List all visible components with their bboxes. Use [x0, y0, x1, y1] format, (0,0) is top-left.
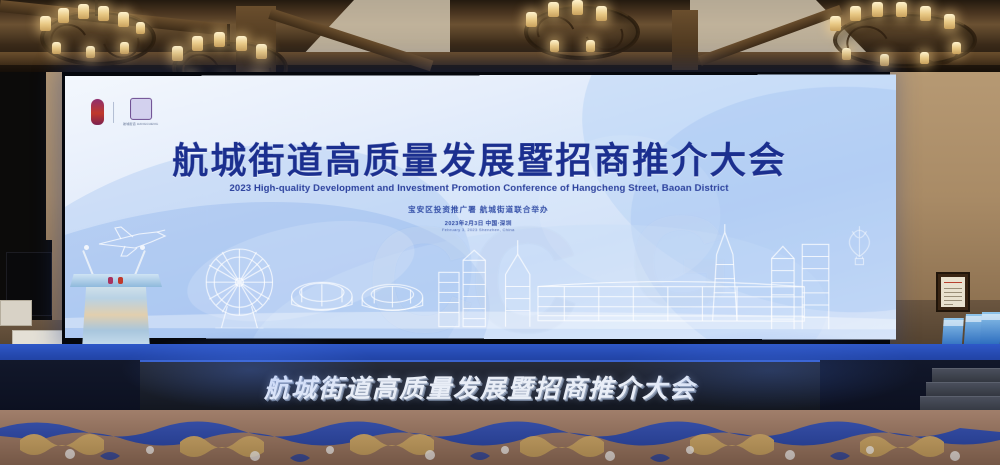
patterned-carpet [0, 410, 1000, 465]
stage-front-banner: 航城街道高质量发展暨招商推介大会 [140, 360, 820, 412]
microphone-head-right [140, 245, 145, 250]
podium-body [82, 287, 150, 349]
microphone-head-left [84, 245, 89, 250]
ceiling-beam-post-right [672, 10, 698, 70]
conference-organizers: 宝安区投资推广署 航城街道联合举办 [65, 204, 896, 215]
podium-logo-right [118, 277, 123, 284]
step-1 [932, 368, 1000, 383]
conference-hall-photo: CC G 航城街道 HANGCHENG 航城街道高质量发展暨招商推介大会 202… [0, 0, 1000, 465]
carpet-shading [0, 410, 1000, 465]
conference-title: 航城街道高质量发展暨招商推介大会 [65, 131, 896, 184]
podium-top [70, 274, 162, 287]
notice-mat [941, 277, 965, 307]
chandelier-3 [520, 0, 640, 76]
skyline-graphic [65, 220, 896, 329]
ping-an-tower [713, 224, 737, 321]
hangcheng-logo-caption: 航城街道 HANGCHENG [123, 122, 158, 126]
logo-divider [113, 101, 114, 122]
step-2 [926, 382, 1000, 397]
left-equipment-box [0, 300, 32, 326]
podium-logo-left [108, 277, 113, 284]
led-screen: CC G 航城街道 HANGCHENG 航城街道高质量发展暨招商推介大会 202… [65, 75, 896, 340]
stage-banner-text: 航城街道高质量发展暨招商推介大会 [264, 369, 696, 405]
led-screen-frame: CC G 航城街道 HANGCHENG 航城街道高质量发展暨招商推介大会 202… [62, 72, 890, 344]
baoan-emblem-icon [91, 99, 104, 125]
screen-logo-group: 航城街道 HANGCHENG [91, 98, 158, 126]
stadium-dome [292, 282, 352, 310]
airplane-line-art [99, 227, 165, 256]
chandelier-1 [36, 0, 156, 82]
framed-notice [936, 272, 970, 312]
hot-air-balloon [849, 226, 869, 264]
arena-dome [362, 284, 423, 310]
conference-subtitle-en: 2023 High-quality Development and Invest… [65, 183, 896, 194]
hangcheng-logo-icon: 航城街道 HANGCHENG [123, 98, 158, 126]
